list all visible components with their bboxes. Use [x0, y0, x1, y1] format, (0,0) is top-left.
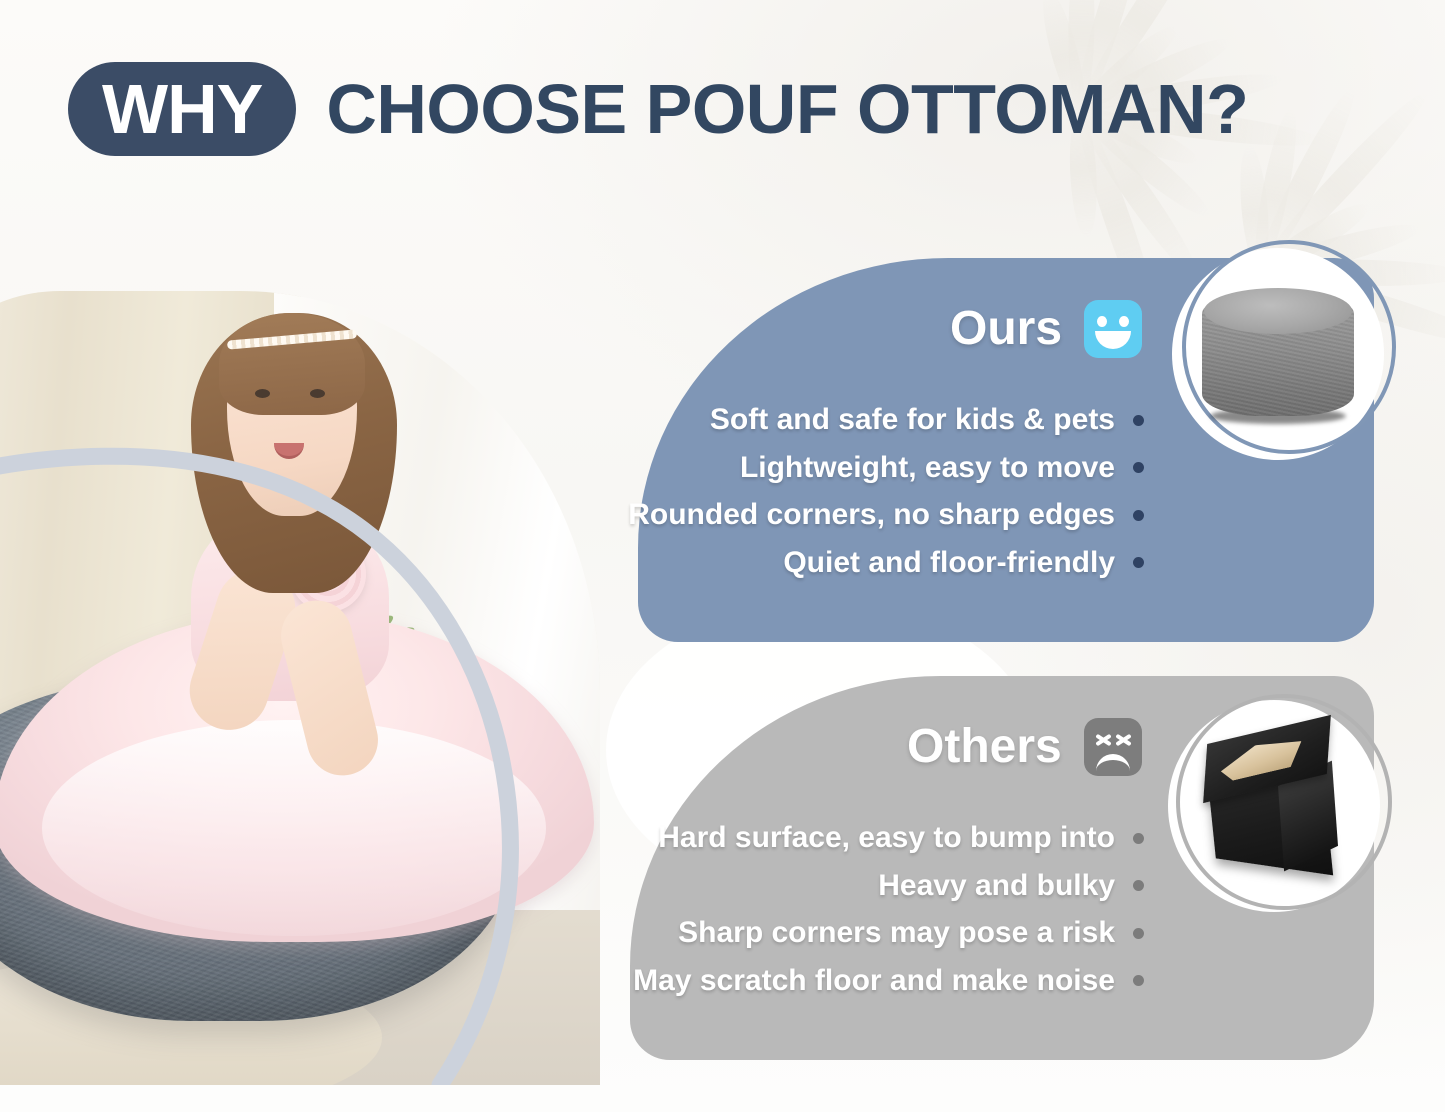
girl-figure — [97, 307, 491, 942]
gray-round-pouf-product-image — [1172, 248, 1384, 460]
ours-bullet-list: Soft and safe for kids & pets Lightweigh… — [628, 400, 1144, 583]
happy-face-eye-right — [1119, 316, 1129, 327]
why-badge: WHY — [68, 62, 296, 156]
ours-bullet-text-2: Lightweight, easy to move — [740, 448, 1115, 489]
bullet-dot-icon — [1133, 880, 1144, 891]
black-storage-box-illustration — [1189, 726, 1359, 886]
page-title-text: CHOOSE POUF OTTOMAN? — [326, 74, 1248, 144]
others-heading-text: Others — [907, 723, 1062, 771]
others-bullet-list: Hard surface, easy to bump into Heavy an… — [633, 818, 1144, 1001]
list-item: Soft and safe for kids & pets — [628, 400, 1144, 441]
ours-bullet-text-4: Quiet and floor-friendly — [783, 543, 1115, 584]
ours-bullet-text-3: Rounded corners, no sharp edges — [628, 495, 1115, 536]
bullet-dot-icon — [1133, 462, 1144, 473]
hero-photo — [0, 205, 620, 1085]
list-item: Quiet and floor-friendly — [628, 543, 1144, 584]
happy-face-icon — [1084, 300, 1142, 358]
bullet-dot-icon — [1133, 975, 1144, 986]
girl-hair-top — [219, 313, 365, 415]
page-title: WHY CHOOSE POUF OTTOMAN? — [68, 62, 1248, 156]
list-item: Rounded corners, no sharp edges — [628, 495, 1144, 536]
others-bullet-text-2: Heavy and bulky — [878, 866, 1115, 907]
bullet-dot-icon — [1133, 415, 1144, 426]
bullet-dot-icon — [1133, 928, 1144, 939]
ours-panel-heading: Ours — [950, 300, 1142, 358]
happy-face-eye-left — [1097, 316, 1107, 327]
list-item: Heavy and bulky — [633, 866, 1144, 907]
gray-pouf-illustration — [1202, 288, 1354, 420]
sad-face-icon — [1084, 718, 1142, 776]
happy-face-smile — [1095, 331, 1131, 349]
hero-photo-clip — [0, 291, 600, 1085]
list-item: Lightweight, easy to move — [628, 448, 1144, 489]
why-choose-pouf-ottoman-infographic: WHY CHOOSE POUF OTTOMAN? Ours Soft and s… — [0, 0, 1445, 1112]
bullet-dot-icon — [1133, 510, 1144, 521]
ours-bullet-text-1: Soft and safe for kids & pets — [710, 400, 1115, 441]
list-item: May scratch floor and make noise — [633, 961, 1144, 1002]
others-bullet-text-3: Sharp corners may pose a risk — [678, 913, 1115, 954]
others-bullet-text-1: Hard surface, easy to bump into — [658, 818, 1115, 859]
sad-face-frown — [1096, 754, 1130, 771]
bullet-dot-icon — [1133, 557, 1144, 568]
list-item: Sharp corners may pose a risk — [633, 913, 1144, 954]
others-bullet-text-4: May scratch floor and make noise — [633, 961, 1115, 1002]
sad-face-eye-right — [1115, 732, 1131, 746]
girl-dress-tulle — [42, 720, 547, 936]
list-item: Hard surface, easy to bump into — [633, 818, 1144, 859]
sad-face-eye-left — [1095, 732, 1111, 746]
bullet-dot-icon — [1133, 833, 1144, 844]
ours-heading-text: Ours — [950, 305, 1062, 353]
others-panel-heading: Others — [907, 718, 1142, 776]
pouf-top — [1204, 288, 1352, 334]
black-square-storage-ottoman-product-image — [1168, 700, 1380, 912]
